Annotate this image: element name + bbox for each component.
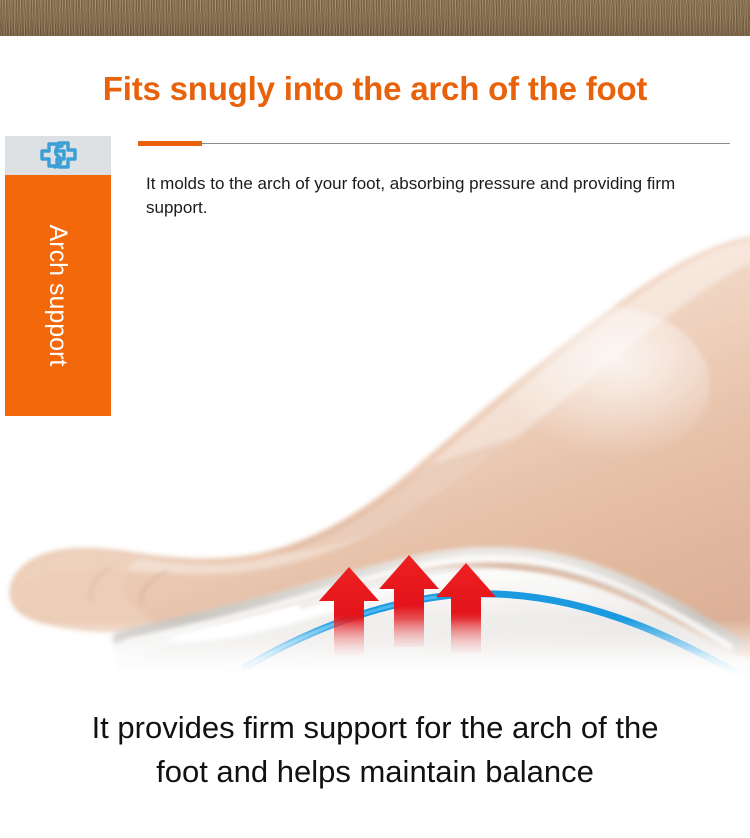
divider-line [202, 143, 730, 144]
caption-line-2: foot and helps maintain balance [0, 750, 750, 794]
medical-cross-arch-icon [35, 139, 81, 173]
accent-bar [138, 141, 202, 146]
caption-line-1: It provides firm support for the arch of… [0, 706, 750, 750]
photo-bottom-fade [0, 619, 750, 675]
top-texture-banner [0, 0, 750, 36]
badge-icon-panel [5, 136, 111, 175]
product-photo [0, 215, 750, 675]
foot-insole-illustration [0, 215, 750, 675]
bottom-caption: It provides firm support for the arch of… [0, 706, 750, 794]
body-paragraph: It molds to the arch of your foot, absor… [146, 172, 726, 220]
page-title: Fits snugly into the arch of the foot [0, 70, 750, 108]
